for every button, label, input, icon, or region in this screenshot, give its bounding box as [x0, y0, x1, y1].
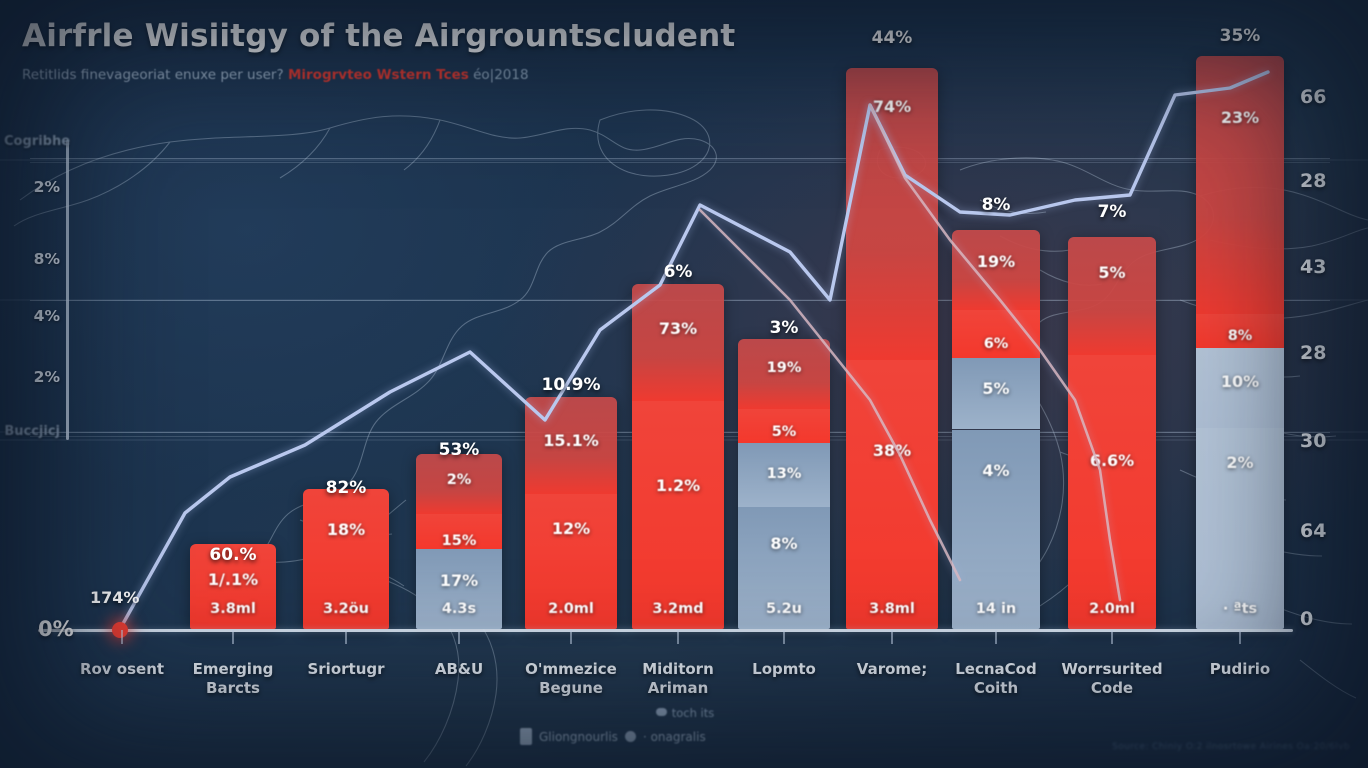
bar-10-total-label: 35%	[1196, 26, 1284, 46]
y-tick-0: 2%	[4, 178, 60, 196]
bar-9-segment-0-label: 5%	[1068, 263, 1156, 282]
bar-5-total-label: 6%	[632, 262, 724, 282]
y-axis-footer-label: Buccjicj	[4, 424, 60, 439]
bar-10-segment-2-label: 10%	[1196, 372, 1284, 391]
bar-2-segment-0-label: 18%	[303, 520, 389, 539]
bar-8-total-label: 8%	[952, 195, 1040, 215]
bar-6[interactable]: 19%5%13%8%5.2u	[738, 339, 830, 629]
bar-10-segment-1-label: 8%	[1196, 328, 1284, 344]
bar-8[interactable]: 19%6%5%4%14 in	[952, 230, 1040, 629]
x-tick-3	[458, 630, 460, 644]
bar-9[interactable]: 5%6.6%2.0ml	[1068, 237, 1156, 629]
bar-7-total-label: 44%	[846, 28, 938, 48]
x-tick-10	[1239, 630, 1241, 644]
legend-label-b[interactable]: · onagralis	[643, 730, 706, 744]
x-axis-label-2[interactable]: Sriortugr	[284, 660, 408, 679]
bar-8-footer-value: 14 in	[952, 601, 1040, 617]
bar-8-segment-1-label: 6%	[952, 336, 1040, 352]
origin-marker-dot	[112, 622, 128, 638]
bar-3-segment-2-label: 17%	[416, 571, 502, 590]
bar-6-total-label: 3%	[738, 318, 830, 338]
bar-1-footer-value: 3.8ml	[190, 601, 276, 617]
bar-6-footer-value: 5.2u	[738, 601, 830, 617]
y-axis-title: Cogribhe	[4, 134, 60, 149]
bar-5-segment-1	[632, 401, 724, 629]
bar-7-segment-1-label: 38%	[846, 441, 938, 460]
y-tick-3: 2%	[4, 368, 60, 386]
bar-2-footer-value: 3.2öu	[303, 601, 389, 617]
y-zero-label: 0%	[38, 617, 74, 641]
legend: toch its Gliongnourlis · onagralis	[520, 706, 850, 745]
x-tick-9	[1111, 630, 1113, 644]
x-tick-8	[995, 630, 997, 644]
y-tick-2: 4%	[4, 307, 60, 325]
right-tick-6: 0	[1300, 608, 1313, 630]
x-tick-7	[891, 630, 893, 644]
bar-10-segment-0-label: 23%	[1196, 108, 1284, 127]
x-tick-2	[345, 630, 347, 644]
legend-top: toch its	[520, 706, 850, 720]
bar-6-segment-1-label: 5%	[738, 424, 830, 440]
bar-3-total-label: 53%	[416, 440, 502, 460]
source-credit: Source: Chiniy O:2 ilnosrtowe Airines Oa…	[1112, 742, 1350, 752]
bar-4[interactable]: 15.1%12%2.0ml	[525, 397, 617, 629]
bar-3-segment-1-label: 15%	[416, 533, 502, 549]
legend-swatch-a[interactable]	[520, 728, 532, 745]
x-tick-4	[570, 630, 572, 644]
right-tick-1: 28	[1300, 170, 1326, 192]
x-tick-0	[121, 630, 123, 644]
bar-3-footer-value: 4.3s	[416, 601, 502, 617]
x-axis-label-1[interactable]: Emerging Barcts	[171, 660, 295, 698]
bar-5[interactable]: 73%1.2%3.2md	[632, 284, 724, 629]
bar-8-segment-2-label: 5%	[952, 379, 1040, 398]
legend-swatch-b[interactable]	[625, 731, 636, 742]
bar-5-segment-0	[632, 284, 724, 401]
bar-2-total-label: 82%	[303, 478, 389, 498]
bar-5-footer-value: 3.2md	[632, 601, 724, 617]
bar-10-segment-0	[1196, 56, 1284, 314]
plot-area: Cogribhe 2% 8% 4% 2% Buccjicj 66 28 43 2…	[0, 0, 1368, 768]
bar-7-segment-0-label: 74%	[846, 97, 938, 116]
y-tick-1: 8%	[4, 250, 60, 268]
bar-5-segment-0-label: 73%	[632, 319, 724, 338]
bar-8-segment-3	[952, 430, 1040, 630]
bar-7[interactable]: 74%38%3.8ml	[846, 68, 938, 629]
x-axis-label-9[interactable]: Worrsurited Code	[1050, 660, 1174, 698]
bar-9-total-label: 7%	[1068, 202, 1156, 222]
legend-top-swatch	[656, 708, 667, 716]
x-axis-label-4[interactable]: O'mmezice Begune	[509, 660, 633, 698]
x-tick-6	[783, 630, 785, 644]
right-tick-4: 30	[1300, 430, 1326, 452]
bar-10-segment-3-label: 2%	[1196, 453, 1284, 472]
x-axis-label-8[interactable]: LecnaCod Coith	[934, 660, 1058, 698]
bar-4-segment-1-label: 12%	[525, 519, 617, 538]
x-tick-5	[677, 630, 679, 644]
bar-1-segment-0-label: 1/.1%	[190, 570, 276, 589]
legend-top-label: toch its	[672, 706, 715, 720]
bar-4-footer-value: 2.0ml	[525, 601, 617, 617]
bar-4-segment-0-label: 15.1%	[525, 431, 617, 450]
x-tick-1	[232, 630, 234, 644]
right-tick-5: 64	[1300, 520, 1326, 542]
bar-5-segment-1-label: 1.2%	[632, 476, 724, 495]
bar-9-footer-value: 2.0ml	[1068, 601, 1156, 617]
bar-9-segment-1-label: 6.6%	[1068, 451, 1156, 470]
bar-6-segment-3-label: 8%	[738, 534, 830, 553]
bar-1-total-label: 60.%	[190, 545, 276, 565]
chart-canvas: Airfrle Wisiitgy of the Airgrountscluden…	[0, 0, 1368, 768]
bar-4-total-label: 10.9%	[525, 375, 617, 395]
x-axis-label-6[interactable]: Lopmto	[722, 660, 846, 679]
bar-10[interactable]: 23%8%10%2%· ªts	[1196, 56, 1284, 629]
bar-8-segment-3-label: 4%	[952, 461, 1040, 480]
bar-6-segment-0-label: 19%	[738, 360, 830, 376]
bar-2[interactable]: 18%3.2öu	[303, 489, 389, 629]
right-tick-3: 28	[1300, 342, 1326, 364]
x-axis-label-3[interactable]: AB&U	[397, 660, 521, 679]
legend-row: Gliongnourlis · onagralis	[520, 728, 850, 745]
legend-label-a[interactable]: Gliongnourlis	[539, 730, 618, 744]
bar-7-segment-1	[846, 360, 938, 629]
bar-3-segment-0-label: 2%	[416, 472, 502, 488]
bar-7-footer-value: 3.8ml	[846, 601, 938, 617]
bar-6-segment-2-label: 13%	[738, 466, 830, 482]
bar-9-segment-0	[1068, 237, 1156, 355]
bar-9-segment-1	[1068, 355, 1156, 629]
bar-8-segment-0-label: 19%	[952, 252, 1040, 271]
gridline-1	[30, 158, 1330, 159]
right-tick-0: 66	[1300, 86, 1326, 108]
bar-3[interactable]: 2%15%17%4.3s	[416, 454, 502, 629]
y-axis-line	[66, 140, 69, 440]
right-tick-2: 43	[1300, 256, 1326, 278]
x-axis-line	[38, 629, 1293, 632]
x-axis-label-10[interactable]: Pudirio	[1178, 660, 1302, 679]
x-axis-label-0[interactable]: Rov osent	[60, 660, 184, 679]
bar-10-footer-value: · ªts	[1196, 601, 1284, 617]
origin-marker-label: 174%	[90, 588, 139, 607]
